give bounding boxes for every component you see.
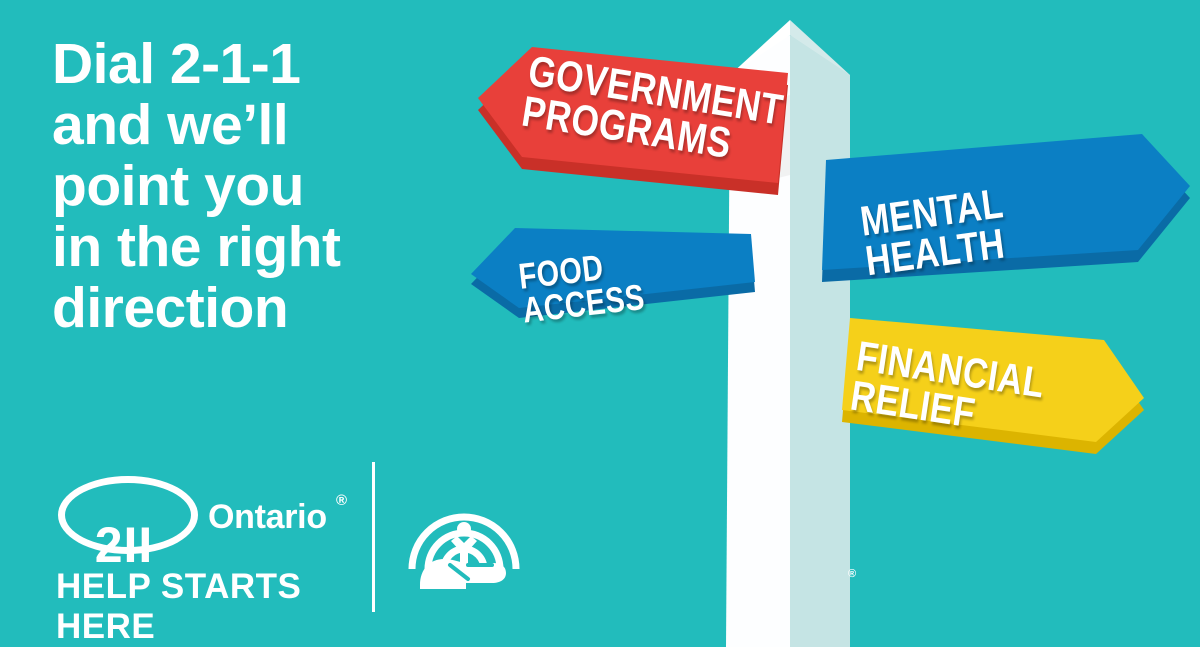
page-title: Dial 2-1-1 and we’ll point you in the ri… xyxy=(52,34,452,339)
sign-food-access[interactable]: FOOD ACCESS xyxy=(465,218,765,338)
sign-government-programs[interactable]: GOVERNMENT PROGRAMS xyxy=(470,35,800,215)
registered-mark: ® xyxy=(336,492,347,509)
logo-211-province: Ontario xyxy=(208,498,327,537)
sign-financial-relief[interactable]: FINANCIAL RELIEF xyxy=(838,300,1198,455)
vertical-divider xyxy=(372,462,375,612)
logo-211-number: 2II xyxy=(54,520,194,570)
logo-row: 2II Ontario ® HELP STARTS HERE xyxy=(54,470,554,620)
united-way-graphic xyxy=(406,473,522,589)
sign-mental-health[interactable]: MENTAL HEALTH xyxy=(812,128,1200,278)
logo-211-tagline: HELP STARTS HERE xyxy=(56,567,354,647)
registered-mark: ® xyxy=(848,568,856,580)
poster-canvas: Dial 2-1-1 and we’ll point you in the ri… xyxy=(0,0,1200,647)
united-way-hand-rainbow-icon[interactable]: ® xyxy=(406,473,522,589)
logo-211-ontario[interactable]: 2II Ontario ® HELP STARTS HERE xyxy=(54,470,354,620)
